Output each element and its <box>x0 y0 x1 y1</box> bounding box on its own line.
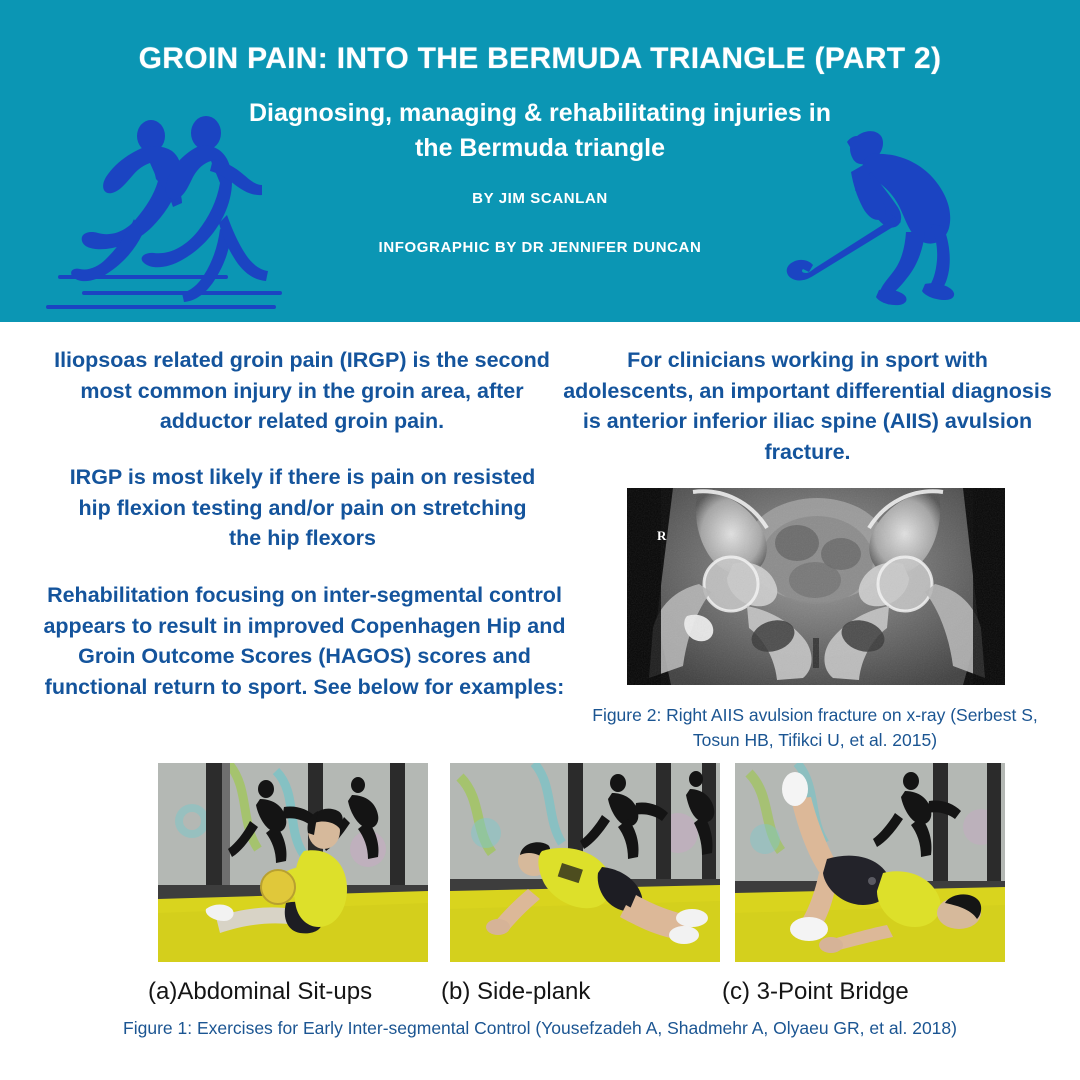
left-paragraph-3: Rehabilitation focusing on inter-segment… <box>42 580 567 702</box>
exercise-photo-side-plank <box>450 763 720 962</box>
xray-side-marker: R <box>657 528 666 544</box>
page-title: GROIN PAIN: INTO THE BERMUDA TRIANGLE (P… <box>0 42 1080 76</box>
exercise-label-b: (b) Side-plank <box>441 978 590 1006</box>
exercise-photo-abdominal-situps <box>158 763 428 962</box>
exercise-photo-three-point-bridge <box>735 763 1005 962</box>
left-paragraph-1: Iliopsoas related groin pain (IRGP) is t… <box>52 345 552 437</box>
figure1-caption: Figure 1: Exercises for Early Inter-segm… <box>40 1018 1040 1039</box>
left-paragraph-2: IRGP is most likely if there is pain on … <box>60 462 545 554</box>
infographic-credit: INFOGRAPHIC BY DR JENNIFER DUNCAN <box>240 236 840 261</box>
xray-image-figure2: R <box>627 488 1005 685</box>
hockey-player-silhouette-icon <box>775 112 1040 312</box>
exercise-label-c: (c) 3-Point Bridge <box>722 978 909 1006</box>
figure2-caption: Figure 2: Right AIIS avulsion fracture o… <box>570 703 1060 754</box>
author-byline: BY JIM SCANLAN <box>240 190 840 207</box>
header-banner: GROIN PAIN: INTO THE BERMUDA TRIANGLE (P… <box>0 0 1080 322</box>
right-paragraph-1: For clinicians working in sport with ado… <box>560 345 1055 467</box>
page-subtitle: Diagnosing, managing & rehabilitating in… <box>240 96 840 165</box>
exercise-label-a: (a)Abdominal Sit-ups <box>148 978 372 1006</box>
